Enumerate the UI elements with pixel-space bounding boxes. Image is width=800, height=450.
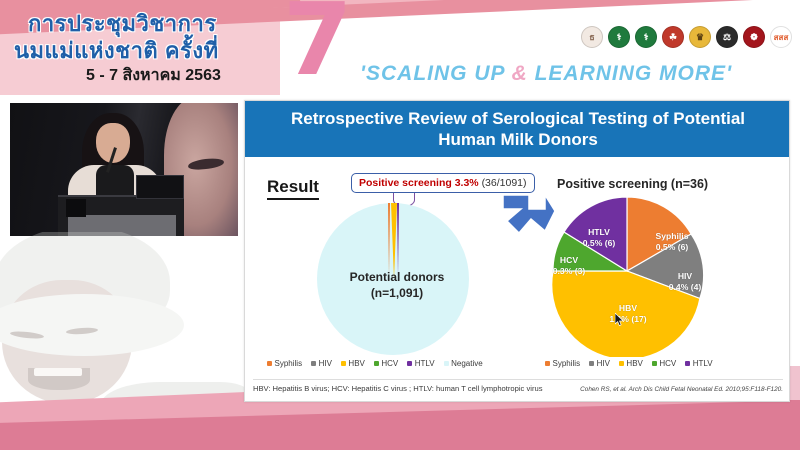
legend2-label-syphilis: Syphilis [553,359,581,368]
legend-label-syphilis: Syphilis [275,359,303,368]
callout-highlight-text: Positive screening 3.3% [359,177,479,189]
legend-label-hcv: HCV [381,359,398,368]
legend-item-syphilis[interactable]: Syphilis [267,359,302,368]
pie-label-hiv-name: HIV [657,271,713,282]
pie-label-htlv-name: HTLV [571,227,627,238]
pie-label-hcv-value: 0.3% (3) [543,266,595,277]
left-pie-legend: Syphilis HIV HBV HCV HTLV Negative [267,359,483,368]
right-pie-legend: Syphilis HIV HBV HCV HTLV [545,359,713,368]
left-pie-label-line1: Potential donors [291,269,503,285]
footnote-citation: Cohen RS, et al. Arch Dis Child Fetal Ne… [580,386,783,393]
legend2-label-htlv: HTLV [693,359,713,368]
footnote-abbreviations: HBV: Hepatitis B virus; HCV: Hepatitis C… [253,384,543,393]
conference-header-banner: 7 การประชุมวิชาการ นมแม่แห่งชาติ ครั้งที… [0,0,800,95]
legend2-swatch-syphilis [545,361,550,366]
pie-label-hbv-value: 1.6% (17) [597,314,659,325]
left-pie-chart[interactable]: Potential donors (n=1,091) [291,197,503,357]
sponsor-logo-3-icon: ⚕ [635,26,657,48]
legend-swatch-hcv [374,361,379,366]
sponsor-logo-8-icon: สสส [770,26,792,48]
left-pie-syphilis-sliver [388,203,390,277]
legend2-swatch-hbv [619,361,624,366]
conference-edition-number: 7 [283,0,353,90]
legend2-item-hbv[interactable]: HBV [619,359,643,368]
presentation-slide[interactable]: Retrospective Review of Serological Test… [244,100,790,402]
sponsor-logo-6-icon: ⚖ [716,26,738,48]
sponsor-logo-4-icon: ☘ [662,26,684,48]
legend2-item-htlv[interactable]: HTLV [685,359,712,368]
slide-title: Retrospective Review of Serological Test… [245,101,790,157]
left-pie-center-label: Potential donors (n=1,091) [291,269,503,301]
pie-label-hcv: HCV 0.3% (3) [543,255,595,276]
pie-label-hiv-value: 0.4% (4) [657,282,713,293]
tagline-part1: 'SCALING UP [360,62,512,85]
legend-swatch-htlv [407,361,412,366]
legend2-item-hiv[interactable]: HIV [589,359,610,368]
conference-tagline: 'SCALING UP & LEARNING MORE' [360,62,732,86]
slide-footnote: HBV: Hepatitis B virus; HCV: Hepatitis C… [253,379,783,393]
pie-label-htlv: HTLV 0.5% (6) [571,227,627,248]
tagline-ampersand: & [512,62,528,85]
sponsor-logo-7-icon: ❁ [743,26,765,48]
pie-label-hbv-name: HBV [597,303,659,314]
sponsor-logo-row: ธ ⚕ ⚕ ☘ ♛ ⚖ ❁ สสส [581,26,792,48]
legend-label-hbv: HBV [348,359,364,368]
pie-label-htlv-value: 0.5% (6) [571,238,627,249]
speaker-video-thumbnail[interactable] [10,103,238,236]
legend-item-hbv[interactable]: HBV [341,359,365,368]
pie-label-syphilis-name: Syphilis [641,231,703,242]
left-pie-htlv-sliver [397,203,399,277]
legend2-label-hbv: HBV [626,359,642,368]
legend2-item-syphilis[interactable]: Syphilis [545,359,580,368]
tagline-part2: LEARNING MORE' [528,62,732,85]
conference-date-thai: 5 - 7 สิงหาคม 2563 [86,63,221,88]
sponsor-logo-2-icon: ⚕ [608,26,630,48]
sponsor-logo-1-icon: ธ [581,26,603,48]
legend-item-hcv[interactable]: HCV [374,359,398,368]
legend2-item-hcv[interactable]: HCV [652,359,676,368]
laptop [136,175,184,199]
legend-label-htlv: HTLV [415,359,435,368]
legend-label-negative: Negative [451,359,483,368]
podium-panel [66,199,86,217]
pie-label-syphilis: Syphilis 0.5% (6) [641,231,703,252]
legend2-swatch-hcv [652,361,657,366]
legend-item-htlv[interactable]: HTLV [407,359,434,368]
left-pie-label-line2: (n=1,091) [291,285,503,301]
pie-label-hiv: HIV 0.4% (4) [657,271,713,292]
legend2-label-hcv: HCV [659,359,676,368]
legend-swatch-negative [444,361,449,366]
screen: 7 การประชุมวิชาการ นมแม่แห่งชาติ ครั้งที… [0,0,800,450]
right-pie-title: Positive screening (n=36) [557,177,708,191]
callout-fraction-text: (36/1091) [482,177,527,189]
baby-teeth [34,368,82,376]
pie-label-hcv-name: HCV [543,255,595,266]
legend-item-negative[interactable]: Negative [444,359,483,368]
legend-swatch-hiv [311,361,316,366]
mouse-cursor-icon [615,313,625,327]
legend2-label-hiv: HIV [597,359,610,368]
pie-label-hbv: HBV 1.6% (17) [597,303,659,324]
legend-item-hiv[interactable]: HIV [311,359,332,368]
sponsor-logo-5-icon: ♛ [689,26,711,48]
pie-label-syphilis-value: 0.5% (6) [641,242,703,253]
legend2-swatch-hiv [589,361,594,366]
legend-swatch-syphilis [267,361,272,366]
baby-hat-brim [0,294,184,356]
legend2-swatch-htlv [685,361,690,366]
right-pie-chart[interactable]: Syphilis 0.5% (6) HIV 0.4% (4) HBV 1.6% … [545,193,715,357]
legend-label-hiv: HIV [319,359,332,368]
legend-swatch-hbv [341,361,346,366]
right-side-pink-strip [778,400,800,432]
